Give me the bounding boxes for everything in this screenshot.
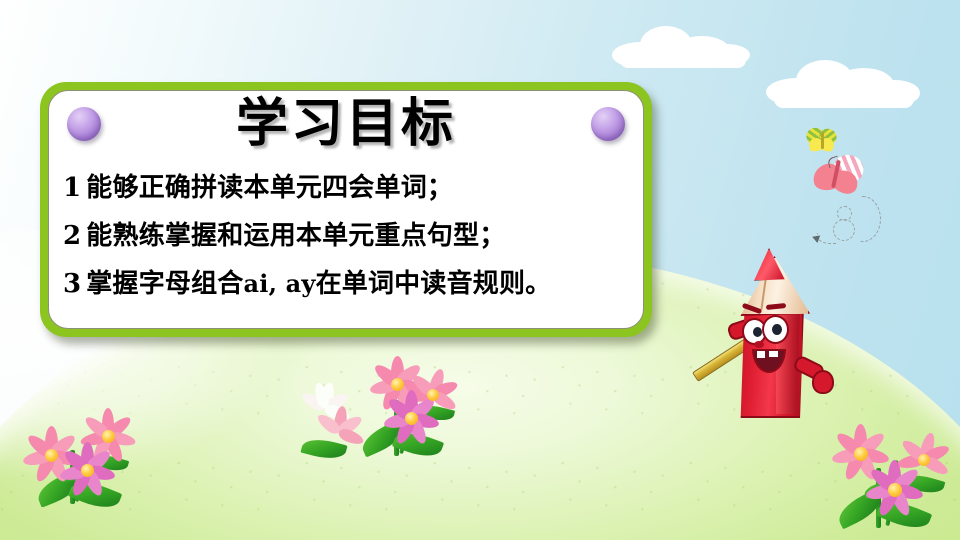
objective-text: 掌握字母组合: [86, 269, 243, 299]
pencil-nose: [754, 341, 764, 348]
objective-text: 能够正确拼读本单元四会单词；: [86, 173, 453, 203]
butterfly-trail-loop-1: [833, 219, 855, 241]
slide-canvas: 学习目标 1能够正确拼读本单元四会单词； 2能熟练掌握和运用本单元重点句型； 3…: [0, 0, 960, 540]
flower-cluster-center: [338, 356, 468, 476]
butterfly-yellow-icon: [806, 128, 840, 154]
objective-number: 3: [63, 269, 81, 299]
objective-number: 1: [63, 173, 81, 203]
butterfly-trail-arrow: [811, 233, 820, 243]
flower-cluster-left: [18, 404, 148, 524]
objective-text: 能熟练掌握和运用本单元重点句型；: [86, 221, 505, 251]
butterfly-pink-icon: [812, 155, 866, 197]
page-title: 学习目标: [49, 97, 643, 152]
objective-number: 2: [63, 221, 81, 251]
objective-text-tail: 在单词中读音规则。: [316, 269, 552, 299]
flower-head: [862, 460, 926, 520]
objective-item-3: 3掌握字母组合ai, ay在单词中读音规则。: [63, 260, 633, 308]
objectives-list: 1能够正确拼读本单元四会单词； 2能熟练掌握和运用本单元重点句型； 3掌握字母组…: [63, 164, 633, 308]
pencil-tip: [752, 248, 786, 282]
red-pencil-character: [690, 248, 870, 433]
objective-item-2: 2能熟练掌握和运用本单元重点句型；: [63, 212, 633, 260]
cloud-left-icon: [612, 22, 762, 68]
objective-item-1: 1能够正确拼读本单元四会单词；: [63, 164, 633, 212]
pencil-right-hand: [812, 370, 834, 394]
cloud-right-icon: [766, 56, 926, 106]
flower-head: [56, 442, 118, 500]
learning-goals-panel-inner: 学习目标 1能够正确拼读本单元四会单词； 2能熟练掌握和运用本单元重点句型； 3…: [48, 90, 644, 329]
pencil-eye-right: [762, 315, 789, 344]
butterfly-trail-loop-2: [837, 206, 852, 221]
flower-cluster-right: [828, 420, 960, 540]
objective-latin-letters: ai, ay: [244, 269, 316, 298]
learning-goals-panel: 学习目标 1能够正确拼读本单元四会单词； 2能熟练掌握和运用本单元重点句型； 3…: [40, 82, 652, 337]
